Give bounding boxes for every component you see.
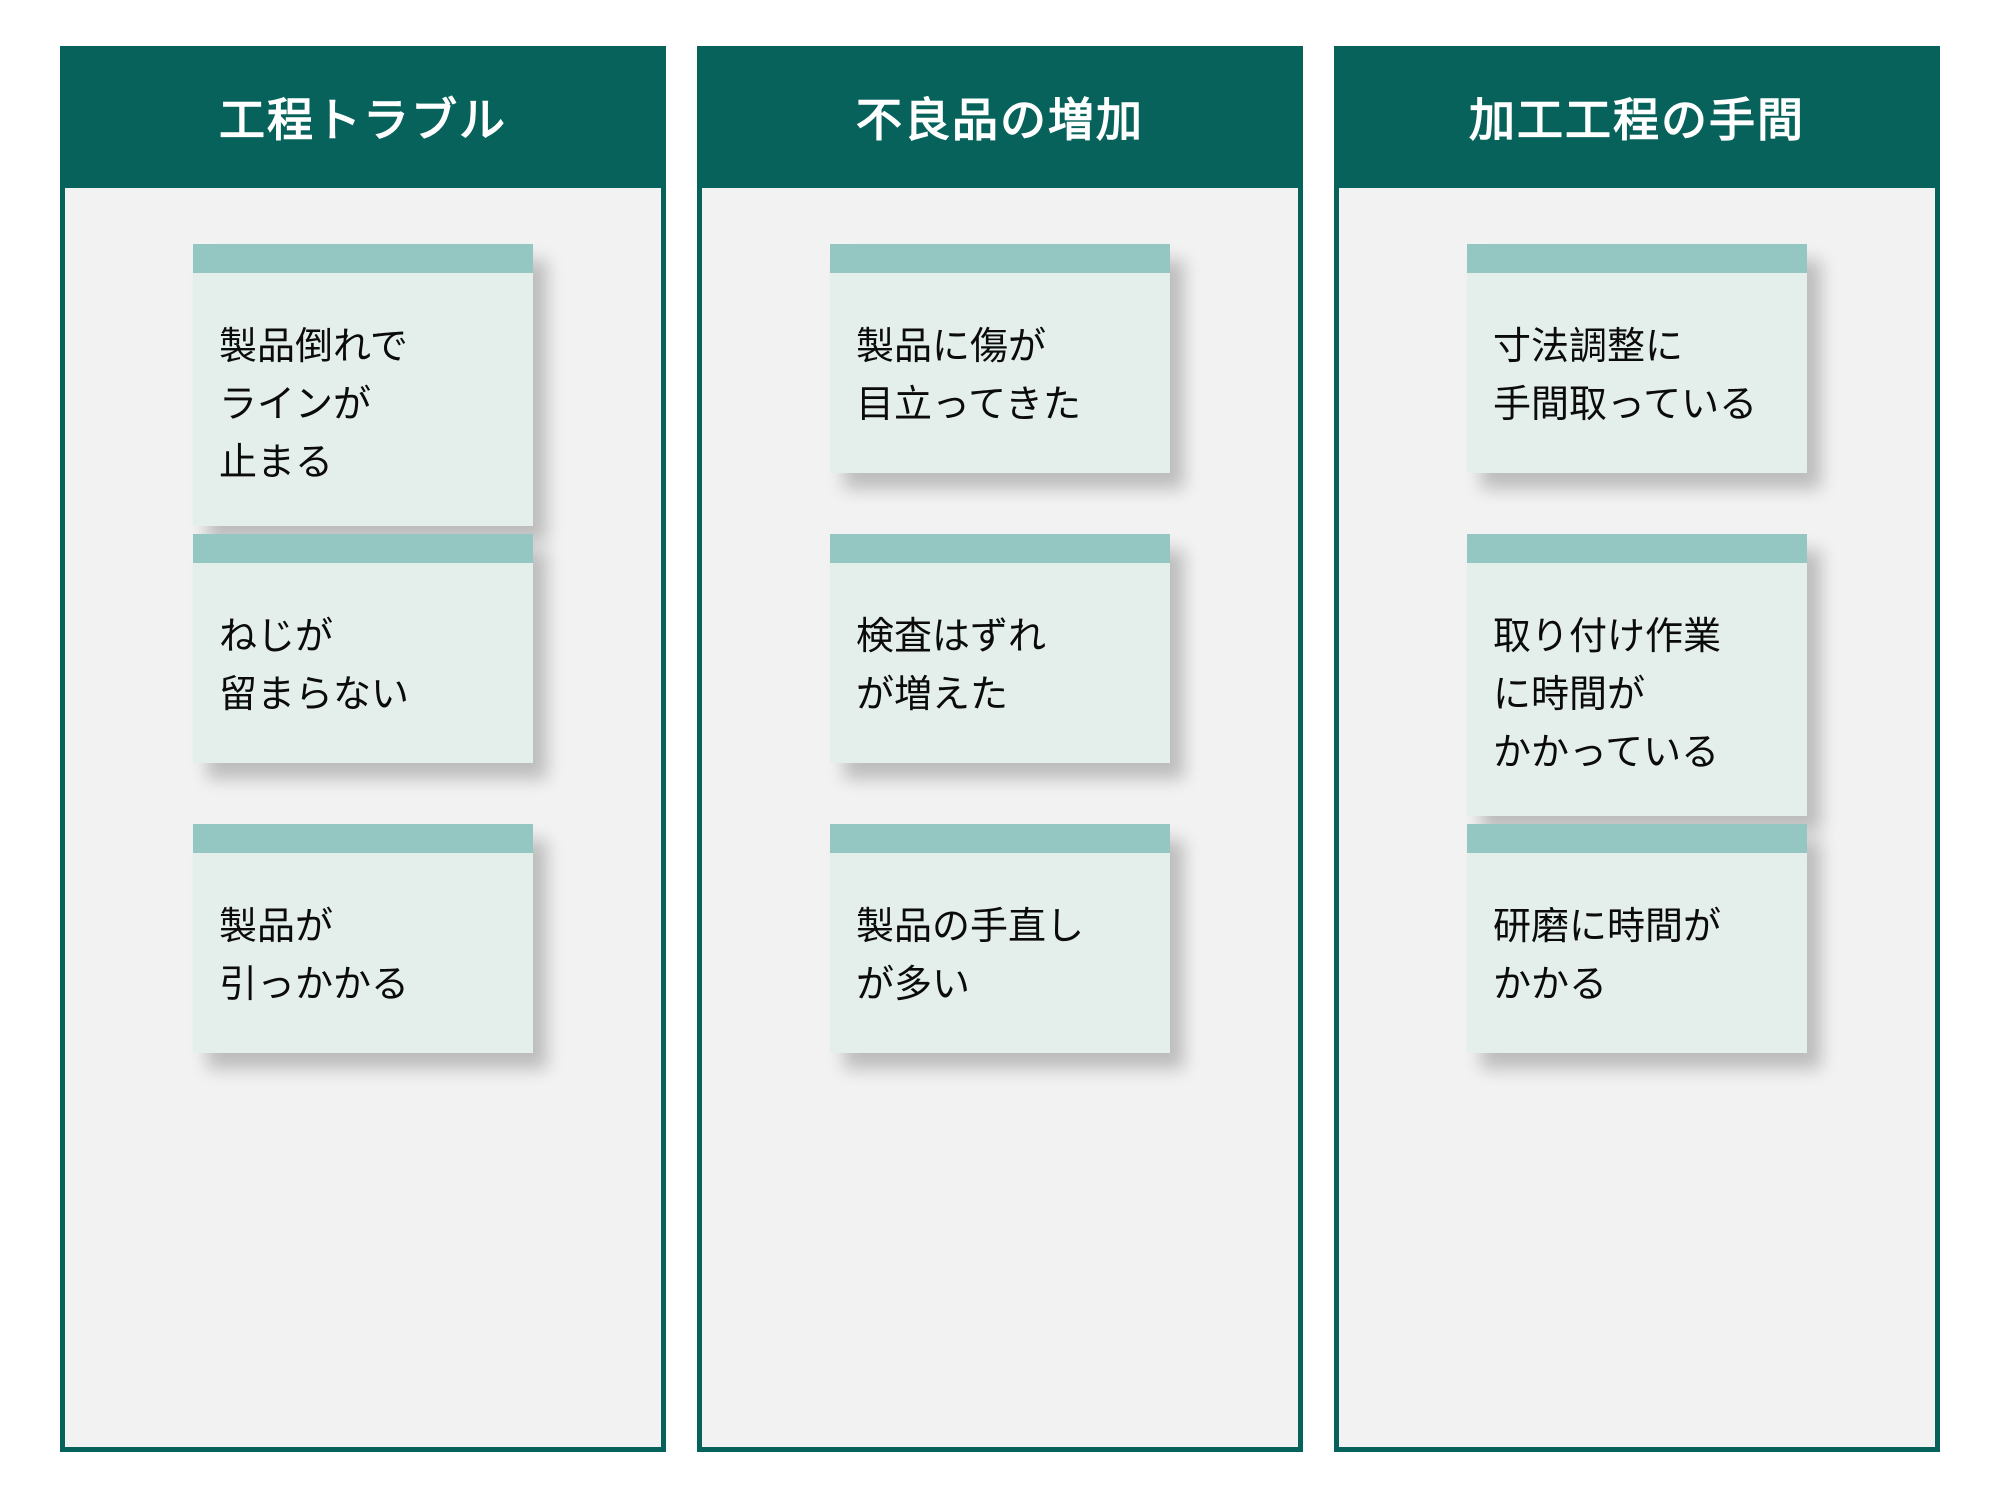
sticky-note[interactable]: ねじが 留まらない [193, 534, 533, 763]
note-line: 検査はずれ [856, 609, 1144, 667]
note-strip [830, 244, 1170, 273]
sticky-note[interactable]: 製品が 引っかかる [193, 824, 533, 1053]
note-line: ラインが [219, 377, 507, 435]
column-header-1: 工程トラブル [65, 51, 661, 188]
column-header-3: 加工工程の手間 [1339, 51, 1935, 188]
note-line: 手間取っている [1493, 377, 1781, 435]
note-strip [830, 824, 1170, 853]
sticky-note[interactable]: 取り付け作業 に時間が かかっている [1467, 534, 1807, 816]
note-body: 製品の手直し が多い [830, 853, 1170, 1053]
affinity-board: 工程トラブル 製品倒れで ラインが 止まる ねじが [0, 0, 2000, 1500]
note-line: 留まらない [219, 667, 507, 725]
note-line: ねじが [219, 609, 507, 667]
note-body: 製品が 引っかかる [193, 853, 533, 1053]
note-body: 研磨に時間が かかる [1467, 853, 1807, 1053]
note-line: 研磨に時間が [1493, 899, 1781, 957]
column-title-1: 工程トラブル [219, 97, 507, 143]
column-title-2: 不良品の増加 [856, 97, 1144, 143]
note-strip [193, 244, 533, 273]
sticky-note[interactable]: 製品倒れで ラインが 止まる [193, 244, 533, 526]
note-slot: 製品に傷が 目立ってきた [702, 244, 1298, 534]
sticky-note[interactable]: 研磨に時間が かかる [1467, 824, 1807, 1053]
note-slot: 研磨に時間が かかる [1339, 824, 1935, 1114]
note-line: 製品倒れで [219, 319, 507, 377]
note-line: 寸法調整に [1493, 319, 1781, 377]
note-body: 製品に傷が 目立ってきた [830, 273, 1170, 473]
column-header-2: 不良品の増加 [702, 51, 1298, 188]
note-line: 取り付け作業 [1493, 609, 1781, 667]
board-column-2[interactable]: 不良品の増加 製品に傷が 目立ってきた 検査はずれ が増えた [697, 46, 1303, 1452]
column-body-1: 製品倒れで ラインが 止まる ねじが 留まらない [65, 188, 661, 1447]
note-body: 取り付け作業 に時間が かかっている [1467, 563, 1807, 816]
note-line: 製品に傷が [856, 319, 1144, 377]
board-column-3[interactable]: 加工工程の手間 寸法調整に 手間取っている 取り付け作業 に時間が [1334, 46, 1940, 1452]
sticky-note[interactable]: 製品の手直し が多い [830, 824, 1170, 1053]
note-slot: 取り付け作業 に時間が かかっている [1339, 534, 1935, 824]
note-strip [1467, 244, 1807, 273]
note-body: 寸法調整に 手間取っている [1467, 273, 1807, 473]
note-strip [1467, 824, 1807, 853]
note-line: 製品の手直し [856, 899, 1144, 957]
note-slot: ねじが 留まらない [65, 534, 661, 824]
note-line: 止まる [219, 435, 507, 493]
note-body: 製品倒れで ラインが 止まる [193, 273, 533, 526]
note-strip [1467, 534, 1807, 563]
note-line: 製品が [219, 899, 507, 957]
note-line: 目立ってきた [856, 377, 1144, 435]
note-slot: 製品の手直し が多い [702, 824, 1298, 1114]
sticky-note[interactable]: 製品に傷が 目立ってきた [830, 244, 1170, 473]
note-line: が多い [856, 957, 1144, 1015]
note-strip [193, 824, 533, 853]
note-line: かかっている [1493, 725, 1781, 783]
note-slot: 製品倒れで ラインが 止まる [65, 244, 661, 534]
note-body: 検査はずれ が増えた [830, 563, 1170, 763]
note-line: が増えた [856, 667, 1144, 725]
note-strip [193, 534, 533, 563]
note-slot: 寸法調整に 手間取っている [1339, 244, 1935, 534]
note-line: に時間が [1493, 667, 1781, 725]
note-body: ねじが 留まらない [193, 563, 533, 763]
column-title-3: 加工工程の手間 [1469, 97, 1805, 143]
sticky-note[interactable]: 検査はずれ が増えた [830, 534, 1170, 763]
column-body-2: 製品に傷が 目立ってきた 検査はずれ が増えた [702, 188, 1298, 1447]
column-body-3: 寸法調整に 手間取っている 取り付け作業 に時間が かかっている [1339, 188, 1935, 1447]
note-line: 引っかかる [219, 957, 507, 1015]
note-strip [830, 534, 1170, 563]
note-slot: 検査はずれ が増えた [702, 534, 1298, 824]
board-column-1[interactable]: 工程トラブル 製品倒れで ラインが 止まる ねじが [60, 46, 666, 1452]
note-slot: 製品が 引っかかる [65, 824, 661, 1114]
note-line: かかる [1493, 957, 1781, 1015]
sticky-note[interactable]: 寸法調整に 手間取っている [1467, 244, 1807, 473]
